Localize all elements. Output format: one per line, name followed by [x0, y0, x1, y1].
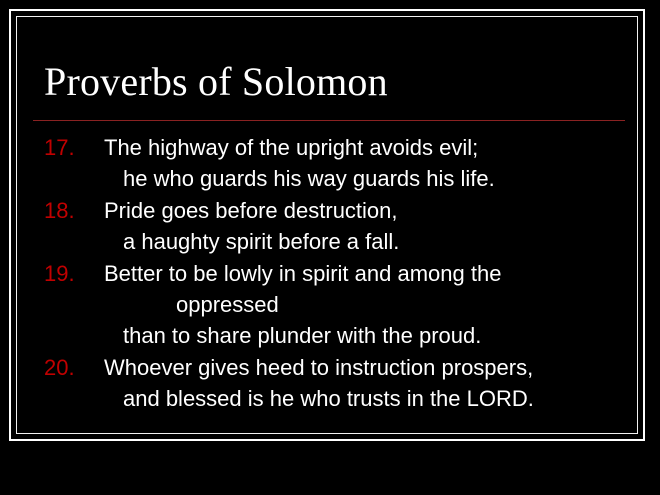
- proverb-item: 20.Whoever gives heed to instruction pro…: [33, 352, 627, 414]
- slide-title: Proverbs of Solomon: [44, 58, 624, 106]
- proverb-line: Better to be lowly in spirit and among t…: [104, 258, 627, 289]
- proverb-text-block: Pride goes before destruction,a haughty …: [104, 195, 627, 257]
- proverb-line: The highway of the upright avoids evil;: [104, 132, 627, 163]
- proverb-line: oppressed: [104, 289, 627, 320]
- proverb-line: a haughty spirit before a fall.: [104, 226, 627, 257]
- proverb-text-block: Better to be lowly in spirit and among t…: [104, 258, 627, 351]
- proverb-line: Pride goes before destruction,: [104, 195, 627, 226]
- proverb-line: he who guards his way guards his life.: [104, 163, 627, 194]
- presentation-slide: Proverbs of Solomon 17.The highway of th…: [0, 0, 660, 495]
- proverb-line: Whoever gives heed to instruction prospe…: [104, 352, 627, 383]
- proverb-number: 18.: [44, 195, 90, 226]
- proverb-number: 20.: [44, 352, 90, 383]
- proverb-item: 19.Better to be lowly in spirit and amon…: [33, 258, 627, 351]
- proverb-text-block: The highway of the upright avoids evil;h…: [104, 132, 627, 194]
- proverb-item: 18.Pride goes before destruction,a haugh…: [33, 195, 627, 257]
- proverb-line: and blessed is he who trusts in the LORD…: [104, 383, 627, 414]
- proverb-line: than to share plunder with the proud.: [104, 320, 627, 351]
- proverb-number: 19.: [44, 258, 90, 289]
- proverb-number: 17.: [44, 132, 90, 163]
- proverb-list: 17.The highway of the upright avoids evi…: [33, 132, 627, 415]
- proverb-item: 17.The highway of the upright avoids evi…: [33, 132, 627, 194]
- title-divider-rule: [33, 120, 625, 121]
- proverb-text-block: Whoever gives heed to instruction prospe…: [104, 352, 627, 414]
